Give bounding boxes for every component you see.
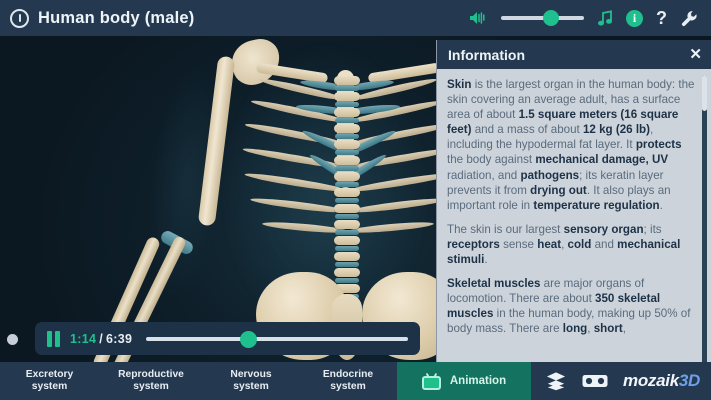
information-paragraph: Skeletal muscles are major organs of loc… [447, 276, 695, 336]
tab-animation-label: Animation [450, 375, 506, 387]
logo-main: mozaik [623, 371, 679, 390]
tab-label-line2: system [233, 381, 269, 393]
mozaik3d-logo[interactable]: mozaik3D [623, 371, 700, 391]
vr-goggles-icon[interactable] [582, 373, 608, 389]
information-panel-header: Information ✕ [437, 40, 711, 69]
page-title: Human body (male) [38, 9, 195, 28]
pause-icon[interactable] [47, 331, 60, 347]
tv-icon [422, 373, 441, 390]
tab-nervous-system[interactable]: Nervous system [203, 362, 299, 400]
seek-bar[interactable] [146, 331, 408, 347]
settings-wrench-icon[interactable] [680, 9, 699, 28]
information-paragraph: The skin is our largest sensory organ; i… [447, 222, 695, 267]
tab-label-line2: system [133, 381, 169, 393]
current-time: 1:14 [70, 332, 96, 346]
tab-label-line1: Nervous [230, 369, 271, 381]
total-time: 6:39 [106, 332, 132, 346]
seek-track [146, 337, 408, 341]
tab-endocrine-system[interactable]: Endocrine system [299, 362, 397, 400]
video-player-controls: 1:14/6:39 [35, 322, 420, 355]
information-text: Skin is the largest organ in the human b… [447, 77, 695, 337]
layers-icon[interactable] [545, 371, 567, 391]
power-info-icon[interactable] [10, 9, 29, 28]
tab-excretory-system[interactable]: Excretory system [0, 362, 99, 400]
tab-label-line1: Reproductive [118, 369, 184, 381]
top-bar: Human body (male) i ? [0, 0, 711, 36]
volume-knob[interactable] [543, 10, 559, 26]
help-icon[interactable]: ? [656, 8, 667, 29]
logo-suffix: 3D [679, 371, 700, 390]
information-paragraph: Skin is the largest organ in the human b… [447, 77, 695, 213]
tab-label-line1: Endocrine [323, 369, 373, 381]
tab-label-line2: system [32, 381, 68, 393]
mozaik3d-app: Human body (male) i ? [0, 0, 711, 400]
playback-time: 1:14/6:39 [70, 332, 132, 346]
tab-animation[interactable]: Animation [397, 362, 531, 400]
title-group: Human body (male) [0, 9, 195, 28]
bottom-navigation-bar: Excretory system Reproductive system Ner… [0, 362, 711, 400]
time-separator: / [99, 332, 103, 346]
information-panel: Information ✕ Skin is the largest organ … [436, 40, 711, 362]
information-panel-title: Information [448, 47, 525, 63]
information-panel-body: Skin is the largest organ in the human b… [437, 69, 711, 362]
info-circle-icon[interactable]: i [626, 10, 643, 27]
tab-reproductive-system[interactable]: Reproductive system [99, 362, 203, 400]
bottom-bar-right-icons: mozaik3D [545, 362, 711, 400]
close-icon[interactable]: ✕ [689, 47, 702, 62]
music-note-icon[interactable] [597, 10, 613, 27]
viewport-corner-dot[interactable] [7, 334, 18, 345]
volume-slider[interactable] [501, 10, 584, 26]
scrollbar-track[interactable] [702, 75, 707, 362]
scrollbar-thumb[interactable] [702, 75, 707, 111]
top-bar-controls: i ? [468, 8, 711, 29]
seek-knob[interactable] [240, 331, 257, 348]
tab-label-line1: Excretory [26, 369, 74, 381]
tab-label-line2: system [330, 381, 366, 393]
speaker-icon[interactable] [468, 10, 488, 26]
